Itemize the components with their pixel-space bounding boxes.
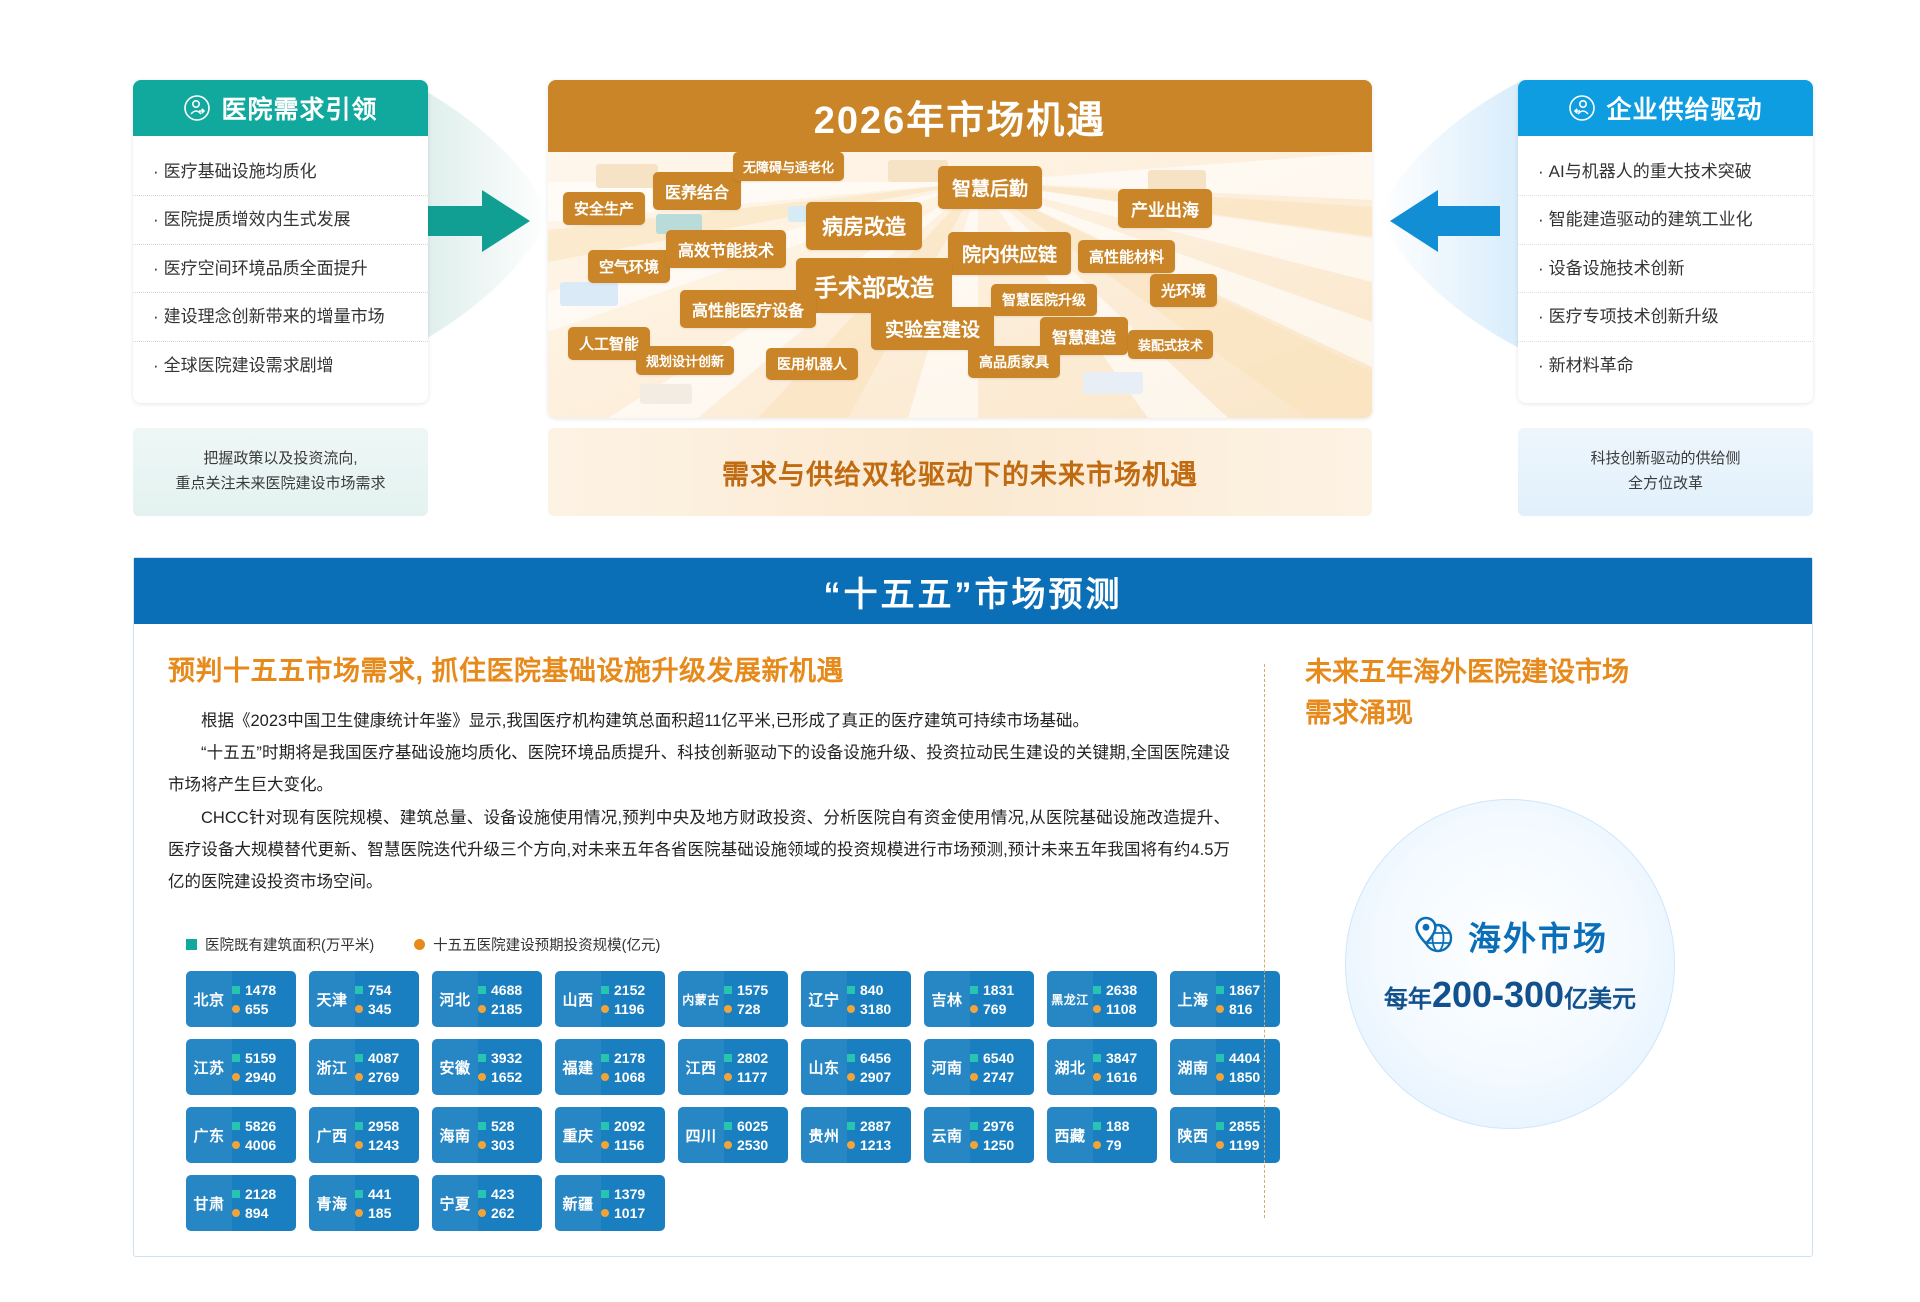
province-name: 山西	[555, 971, 601, 1027]
opportunity-tag: 装配式技术	[1128, 330, 1213, 359]
province-area-value: 4404	[1229, 1050, 1260, 1066]
province-invest-value: 1616	[1106, 1069, 1137, 1085]
opportunity-tag: 光环境	[1150, 274, 1217, 307]
province-values: 28871213	[847, 1107, 911, 1163]
demand-footnote-line2: 重点关注未来医院建设市场需求	[175, 472, 385, 497]
province-name: 贵州	[801, 1107, 847, 1163]
province-area-row: 528	[478, 1118, 538, 1134]
invest-marker-icon	[1216, 1073, 1224, 1081]
opportunity-tag: 产业出海	[1118, 189, 1212, 228]
province-cell[interactable]: 青海441185	[309, 1175, 419, 1231]
overseas-title-line1: 未来五年海外医院建设市场	[1305, 652, 1792, 693]
province-name: 湖北	[1047, 1039, 1093, 1095]
area-marker-icon	[478, 1190, 486, 1198]
province-cell[interactable]: 西藏18879	[1047, 1107, 1157, 1163]
opportunity-tag-label: 空气环境	[599, 256, 659, 277]
province-area-row: 4087	[355, 1050, 415, 1066]
province-name: 广东	[186, 1107, 232, 1163]
invest-marker-icon	[355, 1073, 363, 1081]
province-area-value: 2178	[614, 1050, 645, 1066]
province-values: 20921156	[601, 1107, 665, 1163]
invest-marker-icon	[724, 1005, 732, 1013]
demand-item-label: 全球医院建设需求剧增	[164, 356, 334, 375]
province-invest-row: 728	[724, 1001, 784, 1017]
opportunity-tag-label: 人工智能	[579, 333, 639, 354]
opportunity-tag-label: 规划设计创新	[646, 351, 724, 370]
province-values: 29581243	[355, 1107, 419, 1163]
province-invest-row: 1108	[1093, 1001, 1153, 1017]
supply-item: ·设备设施技术创新	[1518, 245, 1813, 293]
opportunity-tag-label: 产业出海	[1131, 196, 1199, 221]
opportunity-tag-label: 光环境	[1161, 280, 1206, 301]
province-cell[interactable]: 黑龙江26381108	[1047, 971, 1157, 1027]
province-values: 65402747	[970, 1039, 1034, 1095]
province-values: 64562907	[847, 1039, 911, 1095]
province-area-row: 2638	[1093, 982, 1153, 998]
invest-marker-icon	[355, 1005, 363, 1013]
province-cell[interactable]: 四川60252530	[678, 1107, 788, 1163]
forecast-paragraph: “十五五”时期将是我国医疗基础设施均质化、医院环境品质提升、科技创新驱动下的设备…	[168, 737, 1230, 801]
province-area-row: 2976	[970, 1118, 1030, 1134]
demand-footnote-line1: 把握政策以及投资流向,	[203, 447, 357, 472]
province-cell[interactable]: 广东58264006	[186, 1107, 296, 1163]
province-cell[interactable]: 重庆20921156	[555, 1107, 665, 1163]
province-invest-row: 1213	[847, 1137, 907, 1153]
legend-item-area: 医院既有建筑面积(万平米)	[186, 934, 374, 955]
province-values: 21521196	[601, 971, 665, 1027]
province-values: 1831769	[970, 971, 1034, 1027]
supply-panel: 企业供给驱动 ·AI与机器人的重大技术突破 ·智能建造驱动的建筑工业化 ·设备设…	[1518, 80, 1813, 403]
demand-panel-header: 医院需求引领	[133, 80, 428, 136]
province-invest-row: 345	[355, 1001, 415, 1017]
province-values: 2128894	[232, 1175, 296, 1231]
province-name: 陕西	[1170, 1107, 1216, 1163]
province-cell[interactable]: 吉林1831769	[924, 971, 1034, 1027]
province-name: 宁夏	[432, 1175, 478, 1231]
province-cell[interactable]: 浙江40872769	[309, 1039, 419, 1095]
province-cell[interactable]: 山西21521196	[555, 971, 665, 1027]
area-marker-icon	[232, 986, 240, 994]
province-area-row: 188	[1093, 1118, 1153, 1134]
invest-marker-icon	[1093, 1141, 1101, 1149]
opportunity-tag-label: 智慧建造	[1052, 324, 1116, 348]
supply-footnote-line1: 科技创新驱动的供给侧	[1590, 447, 1740, 472]
province-invest-row: 1616	[1093, 1069, 1153, 1085]
province-invest-value: 1196	[614, 1001, 644, 1017]
forecast-paragraph: 根据《2023中国卫生健康统计年鉴》显示,我国医疗机构建筑总面积超11亿平米,已…	[168, 705, 1230, 737]
invest-marker-icon	[355, 1209, 363, 1217]
area-marker-icon	[847, 986, 855, 994]
province-area-value: 6025	[737, 1118, 768, 1134]
opportunity-tag-label: 智慧后勤	[952, 174, 1028, 201]
province-area-value: 754	[368, 982, 391, 998]
province-values: 13791017	[601, 1175, 665, 1231]
province-invest-value: 769	[983, 1001, 1006, 1017]
invest-marker-icon	[1093, 1005, 1101, 1013]
province-cell[interactable]: 贵州28871213	[801, 1107, 911, 1163]
province-values: 18879	[1093, 1107, 1157, 1163]
province-area-row: 2092	[601, 1118, 661, 1134]
area-marker-icon	[1216, 1054, 1224, 1062]
area-marker-icon	[478, 1122, 486, 1130]
province-area-row: 840	[847, 982, 907, 998]
province-values: 39321652	[478, 1039, 542, 1095]
province-cell[interactable]: 辽宁8403180	[801, 971, 911, 1027]
demand-item: ·医院提质增效内生式发展	[133, 196, 428, 244]
invest-marker-icon	[724, 1073, 732, 1081]
province-area-value: 3932	[491, 1050, 522, 1066]
supply-item-label: 设备设施技术创新	[1549, 259, 1685, 278]
province-invest-value: 1652	[491, 1069, 522, 1085]
province-invest-value: 2747	[983, 1069, 1014, 1085]
supply-item: ·AI与机器人的重大技术突破	[1518, 148, 1813, 196]
province-grid: 北京1478655天津754345河北46882185山西21521196内蒙古…	[168, 971, 1230, 1231]
province-invest-value: 1243	[368, 1137, 399, 1153]
province-invest-row: 1017	[601, 1205, 661, 1221]
province-name: 云南	[924, 1107, 970, 1163]
decorative-block	[640, 384, 692, 404]
province-name: 新疆	[555, 1175, 601, 1231]
demand-item-label: 医疗基础设施均质化	[164, 162, 317, 181]
province-invest-row: 1156	[601, 1137, 661, 1153]
area-marker-icon	[232, 1190, 240, 1198]
province-invest-row: 2769	[355, 1069, 415, 1085]
province-area-value: 1379	[614, 1186, 645, 1202]
province-invest-value: 1213	[860, 1137, 891, 1153]
province-values: 1575728	[724, 971, 788, 1027]
legend-label-area: 医院既有建筑面积(万平米)	[205, 934, 374, 955]
province-cell[interactable]: 湖北38471616	[1047, 1039, 1157, 1095]
decorative-block	[596, 164, 658, 188]
supply-footnote: 科技创新驱动的供给侧 全方位改革	[1518, 428, 1813, 516]
province-area-row: 754	[355, 982, 415, 998]
province-area-value: 2855	[1229, 1118, 1260, 1134]
opportunity-tag: 无障碍与适老化	[733, 152, 844, 181]
province-invest-value: 185	[368, 1205, 391, 1221]
province-values: 26381108	[1093, 971, 1157, 1027]
demand-panel-list: ·医疗基础设施均质化 ·医院提质增效内生式发展 ·医疗空间环境品质全面提升 ·建…	[133, 136, 428, 403]
province-invest-value: 655	[245, 1001, 268, 1017]
area-marker-icon	[970, 1122, 978, 1130]
invest-marker-icon	[847, 1073, 855, 1081]
overseas-title-line2: 需求涌现	[1305, 693, 1792, 734]
area-marker-icon	[1216, 1122, 1224, 1130]
opportunity-tag-label: 医养结合	[665, 179, 729, 203]
opportunity-tag: 高效节能技术	[666, 230, 786, 268]
invest-marker-icon	[232, 1141, 240, 1149]
province-name: 天津	[309, 971, 355, 1027]
forecast-section-title: 预判十五五市场需求, 抓住医院基础设施升级发展新机遇	[168, 652, 1230, 691]
opportunity-tag-label: 高效节能技术	[678, 237, 774, 261]
province-invest-value: 2940	[245, 1069, 276, 1085]
province-name: 黑龙江	[1047, 971, 1093, 1027]
opportunity-tag: 医用机器人	[766, 348, 858, 380]
province-area-row: 5159	[232, 1050, 292, 1066]
province-values: 60252530	[724, 1107, 788, 1163]
province-area-value: 2092	[614, 1118, 645, 1134]
area-marker-icon	[601, 1190, 609, 1198]
demand-arrow-icon	[420, 190, 530, 252]
province-area-row: 6456	[847, 1050, 907, 1066]
demand-item: ·建设理念创新带来的增量市场	[133, 293, 428, 341]
province-area-row: 2128	[232, 1186, 292, 1202]
province-invest-row: 2185	[478, 1001, 538, 1017]
province-invest-row: 2940	[232, 1069, 292, 1085]
invest-marker-icon	[232, 1005, 240, 1013]
area-marker-icon	[232, 1122, 240, 1130]
province-area-value: 2958	[368, 1118, 399, 1134]
province-invest-value: 1250	[983, 1137, 1014, 1153]
invest-marker-icon	[724, 1141, 732, 1149]
province-values: 21781068	[601, 1039, 665, 1095]
province-area-row: 2802	[724, 1050, 784, 1066]
province-values: 46882185	[478, 971, 542, 1027]
opportunity-tag: 高性能医疗设备	[680, 290, 816, 328]
province-name: 上海	[1170, 971, 1216, 1027]
province-area-value: 2887	[860, 1118, 891, 1134]
opportunity-tag: 规划设计创新	[636, 346, 734, 375]
opportunity-tag: 高品质家具	[968, 346, 1060, 378]
area-marker-icon	[847, 1122, 855, 1130]
opportunity-tag-label: 无障碍与适老化	[743, 157, 834, 176]
province-cell[interactable]: 内蒙古1575728	[678, 971, 788, 1027]
province-name: 吉林	[924, 971, 970, 1027]
province-name: 重庆	[555, 1107, 601, 1163]
province-area-value: 2976	[983, 1118, 1014, 1134]
province-cell[interactable]: 天津754345	[309, 971, 419, 1027]
forecast-left-column: 预判十五五市场需求, 抓住医院基础设施升级发展新机遇 根据《2023中国卫生健康…	[134, 624, 1264, 1258]
area-marker-icon	[601, 986, 609, 994]
opportunity-caption: 需求与供给双轮驱动下的未来市场机遇	[548, 428, 1372, 516]
province-cell[interactable]: 山东64562907	[801, 1039, 911, 1095]
province-area-row: 3932	[478, 1050, 538, 1066]
invest-marker-icon	[232, 1209, 240, 1217]
province-area-row: 6540	[970, 1050, 1030, 1066]
opportunity-tag-label: 手术部改造	[814, 268, 934, 303]
province-area-value: 1575	[737, 982, 768, 998]
province-cell[interactable]: 江西28021177	[678, 1039, 788, 1095]
province-area-row: 2958	[355, 1118, 415, 1134]
province-area-value: 5826	[245, 1118, 276, 1134]
demand-panel-title: 医院需求引领	[221, 90, 377, 126]
province-invest-value: 728	[737, 1001, 760, 1017]
province-area-value: 1867	[1229, 982, 1260, 998]
province-cell[interactable]: 北京1478655	[186, 971, 296, 1027]
legend-circle-marker-icon	[414, 939, 425, 950]
opportunity-tag-label: 安全生产	[574, 198, 634, 219]
province-area-value: 441	[368, 1186, 391, 1202]
province-cell[interactable]: 云南29761250	[924, 1107, 1034, 1163]
province-invest-row: 1243	[355, 1137, 415, 1153]
province-name: 湖南	[1170, 1039, 1216, 1095]
province-invest-row: 4006	[232, 1137, 292, 1153]
province-invest-row: 79	[1093, 1137, 1153, 1153]
area-marker-icon	[355, 1122, 363, 1130]
invest-marker-icon	[1216, 1005, 1224, 1013]
legend-label-invest: 十五五医院建设预期投资规模(亿元)	[433, 934, 660, 955]
overseas-amount-suffix: 亿美元	[1564, 986, 1636, 1013]
invest-marker-icon	[601, 1209, 609, 1217]
invest-marker-icon	[478, 1073, 486, 1081]
province-cell[interactable]: 安徽39321652	[432, 1039, 542, 1095]
overseas-title: 未来五年海外医院建设市场 需求涌现	[1305, 652, 1792, 733]
opportunity-tag: 空气环境	[588, 250, 670, 283]
province-invest-row: 185	[355, 1205, 415, 1221]
province-cell[interactable]: 江苏51592940	[186, 1039, 296, 1095]
province-cell[interactable]: 福建21781068	[555, 1039, 665, 1095]
province-cell[interactable]: 甘肃2128894	[186, 1175, 296, 1231]
invest-marker-icon	[355, 1141, 363, 1149]
province-values: 754345	[355, 971, 419, 1027]
opportunity-tag: 院内供应链	[948, 232, 1071, 275]
opportunity-tag: 手术部改造	[796, 258, 952, 313]
opportunity-tag-label: 高性能医疗设备	[692, 297, 804, 321]
forecast-section: “十五五”市场预测 预判十五五市场需求, 抓住医院基础设施升级发展新机遇 根据《…	[133, 557, 1813, 1257]
legend-square-marker-icon	[186, 939, 197, 950]
province-cell[interactable]: 广西29581243	[309, 1107, 419, 1163]
area-marker-icon	[478, 1054, 486, 1062]
province-invest-row: 1177	[724, 1069, 784, 1085]
demand-item-label: 医疗空间环境品质全面提升	[164, 259, 368, 278]
province-cell[interactable]: 宁夏423262	[432, 1175, 542, 1231]
province-invest-value: 1177	[737, 1069, 767, 1085]
opportunity-tag-label: 装配式技术	[1138, 335, 1203, 354]
invest-marker-icon	[478, 1005, 486, 1013]
opportunity-tag-label: 院内供应链	[962, 240, 1057, 267]
province-values: 51592940	[232, 1039, 296, 1095]
province-values: 28021177	[724, 1039, 788, 1095]
province-values: 528303	[478, 1107, 542, 1163]
area-marker-icon	[724, 1122, 732, 1130]
invest-marker-icon	[601, 1005, 609, 1013]
province-area-value: 840	[860, 982, 883, 998]
province-cell[interactable]: 河北46882185	[432, 971, 542, 1027]
area-marker-icon	[1093, 986, 1101, 994]
supply-arrow-icon	[1390, 190, 1500, 252]
forecast-paragraph: CHCC针对现有医院规模、建筑总量、设备设施使用情况,预判中央及地方财政投资、分…	[168, 802, 1230, 899]
province-invest-value: 1068	[614, 1069, 645, 1085]
province-area-row: 2152	[601, 982, 661, 998]
province-invest-value: 2530	[737, 1137, 768, 1153]
supply-panel-header: 企业供给驱动	[1518, 80, 1813, 136]
forecast-body: 预判十五五市场需求, 抓住医院基础设施升级发展新机遇 根据《2023中国卫生健康…	[134, 624, 1812, 1258]
globe-location-icon	[1412, 914, 1456, 958]
province-area-value: 528	[491, 1118, 514, 1134]
overseas-bubble-label: 海外市场	[1468, 912, 1608, 960]
province-name: 北京	[186, 971, 232, 1027]
area-marker-icon	[601, 1054, 609, 1062]
province-name: 辽宁	[801, 971, 847, 1027]
province-name: 浙江	[309, 1039, 355, 1095]
province-area-value: 4688	[491, 982, 522, 998]
province-area-row: 4688	[478, 982, 538, 998]
area-marker-icon	[1093, 1122, 1101, 1130]
area-marker-icon	[355, 986, 363, 994]
province-area-value: 423	[491, 1186, 514, 1202]
supply-item: ·医疗专项技术创新升级	[1518, 293, 1813, 341]
province-cell[interactable]: 新疆13791017	[555, 1175, 665, 1231]
province-values: 1478655	[232, 971, 296, 1027]
top-section: 医院需求引领 ·医疗基础设施均质化 ·医院提质增效内生式发展 ·医疗空间环境品质…	[0, 0, 1920, 470]
province-name: 江苏	[186, 1039, 232, 1095]
province-area-row: 2178	[601, 1050, 661, 1066]
province-values: 40872769	[355, 1039, 419, 1095]
forecast-banner: “十五五”市场预测	[134, 558, 1812, 624]
invest-marker-icon	[478, 1141, 486, 1149]
province-area-value: 2128	[245, 1186, 276, 1202]
supply-item: ·智能建造驱动的建筑工业化	[1518, 196, 1813, 244]
supply-item-label: 医疗专项技术创新升级	[1549, 307, 1719, 326]
invest-marker-icon	[232, 1073, 240, 1081]
invest-marker-icon	[1216, 1141, 1224, 1149]
province-invest-row: 303	[478, 1137, 538, 1153]
supply-panel-list: ·AI与机器人的重大技术突破 ·智能建造驱动的建筑工业化 ·设备设施技术创新 ·…	[1518, 136, 1813, 403]
province-invest-value: 3180	[860, 1001, 891, 1017]
invest-marker-icon	[970, 1005, 978, 1013]
province-values: 58264006	[232, 1107, 296, 1163]
province-invest-value: 1199	[1229, 1137, 1259, 1153]
province-area-row: 2887	[847, 1118, 907, 1134]
area-marker-icon	[724, 986, 732, 994]
province-area-row: 1379	[601, 1186, 661, 1202]
province-values: 8403180	[847, 971, 911, 1027]
province-invest-row: 1068	[601, 1069, 661, 1085]
province-invest-value: 1017	[614, 1205, 645, 1221]
demand-item-label: 建设理念创新带来的增量市场	[164, 307, 385, 326]
province-invest-value: 4006	[245, 1137, 276, 1153]
province-invest-value: 1850	[1229, 1069, 1260, 1085]
area-marker-icon	[601, 1122, 609, 1130]
infographic-page: 医院需求引领 ·医疗基础设施均质化 ·医院提质增效内生式发展 ·医疗空间环境品质…	[0, 0, 1920, 1302]
province-area-value: 4087	[368, 1050, 399, 1066]
province-cell[interactable]: 海南528303	[432, 1107, 542, 1163]
opportunity-board-title: 2026年市场机遇	[548, 80, 1372, 152]
province-invest-value: 894	[245, 1205, 268, 1221]
province-area-value: 6540	[983, 1050, 1014, 1066]
supply-panel-title: 企业供给驱动	[1606, 90, 1762, 126]
province-invest-row: 769	[970, 1001, 1030, 1017]
area-marker-icon	[724, 1054, 732, 1062]
province-values: 423262	[478, 1175, 542, 1231]
province-invest-value: 2907	[860, 1069, 891, 1085]
invest-marker-icon	[1093, 1073, 1101, 1081]
area-marker-icon	[355, 1190, 363, 1198]
supply-item: ·新材料革命	[1518, 342, 1813, 389]
province-area-value: 2638	[1106, 982, 1137, 998]
person-arrow-right-icon	[183, 94, 211, 122]
province-cell[interactable]: 河南65402747	[924, 1039, 1034, 1095]
legend-item-invest: 十五五医院建设预期投资规模(亿元)	[414, 934, 660, 955]
overseas-amount-value: 200-300	[1432, 974, 1564, 1015]
province-name: 四川	[678, 1107, 724, 1163]
province-area-value: 1831	[983, 982, 1014, 998]
supply-item-label: 智能建造驱动的建筑工业化	[1549, 210, 1753, 229]
area-marker-icon	[1216, 986, 1224, 994]
chart-legend: 医院既有建筑面积(万平米) 十五五医院建设预期投资规模(亿元)	[168, 934, 1230, 955]
opportunity-tag-label: 高品质家具	[979, 352, 1049, 372]
province-invest-row: 2747	[970, 1069, 1030, 1085]
province-name: 内蒙古	[678, 971, 724, 1027]
supply-item-label: 新材料革命	[1549, 356, 1634, 375]
province-name: 河北	[432, 971, 478, 1027]
invest-marker-icon	[478, 1209, 486, 1217]
province-area-value: 5159	[245, 1050, 276, 1066]
invest-marker-icon	[847, 1005, 855, 1013]
province-invest-row: 1652	[478, 1069, 538, 1085]
demand-item-label: 医院提质增效内生式发展	[164, 210, 351, 229]
province-name: 海南	[432, 1107, 478, 1163]
invest-marker-icon	[970, 1141, 978, 1149]
